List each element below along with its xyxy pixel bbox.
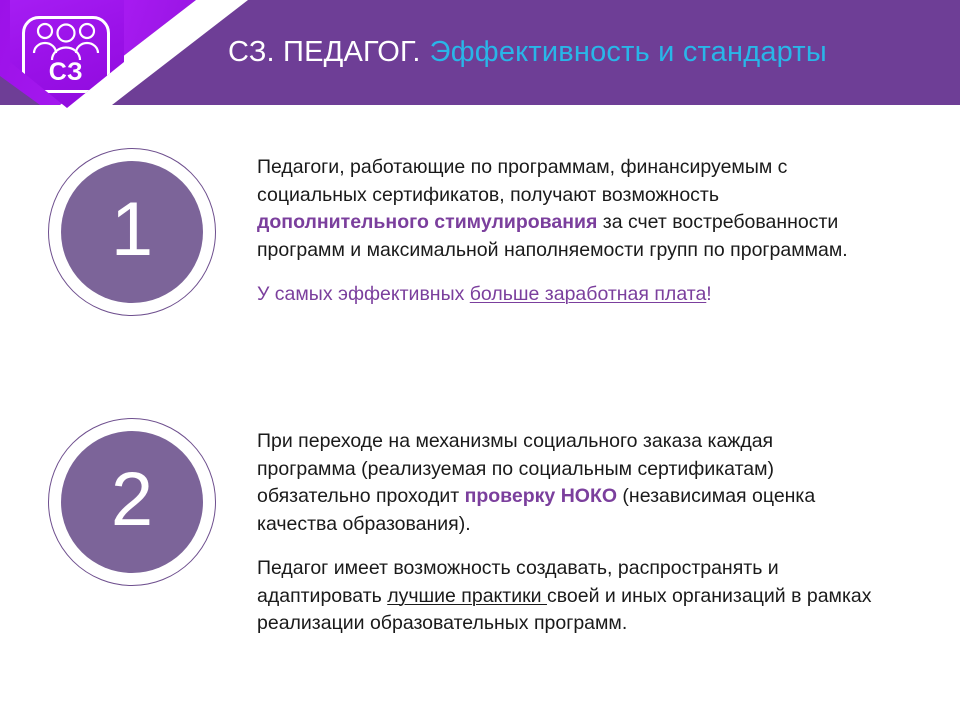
text-run-underlined: больше заработная плата — [470, 283, 707, 305]
text-run-underlined: лучшие практики — [387, 585, 547, 607]
step-number-badge-1: 1 — [48, 148, 216, 316]
slide-header: СЗ. ПЕДАГОГ. Эффективность и стандарты — [0, 0, 960, 105]
text-run: Педагоги, работающие по программам, фина… — [257, 156, 787, 206]
paragraph: Педагоги, работающие по программам, фина… — [257, 154, 877, 264]
paragraph: При переходе на механизмы социального за… — [257, 428, 877, 538]
paragraph-highlight: У самых эффективных больше заработная пл… — [257, 281, 877, 309]
text-run: ! — [706, 283, 711, 305]
page-title: СЗ. ПЕДАГОГ. Эффективность и стандарты — [228, 0, 827, 105]
content-block-2-text: При переходе на механизмы социального за… — [257, 428, 877, 638]
step-number-label: 2 — [48, 418, 216, 586]
paragraph: Педагог имеет возможность создавать, рас… — [257, 555, 877, 638]
content-block-1-text: Педагоги, работающие по программам, фина… — [257, 154, 877, 309]
step-number-label: 1 — [48, 148, 216, 316]
step-number-badge-2: 2 — [48, 418, 216, 586]
text-run: У самых эффективных — [257, 283, 470, 305]
text-run-emphasis: дополнительного стимулирования — [257, 211, 597, 233]
three-people-icon — [30, 22, 102, 60]
page-title-accent: Эффективность и стандарты — [430, 36, 827, 69]
text-run-emphasis: проверку НОКО — [465, 485, 617, 507]
page-title-main: СЗ. ПЕДАГОГ. — [228, 36, 421, 69]
